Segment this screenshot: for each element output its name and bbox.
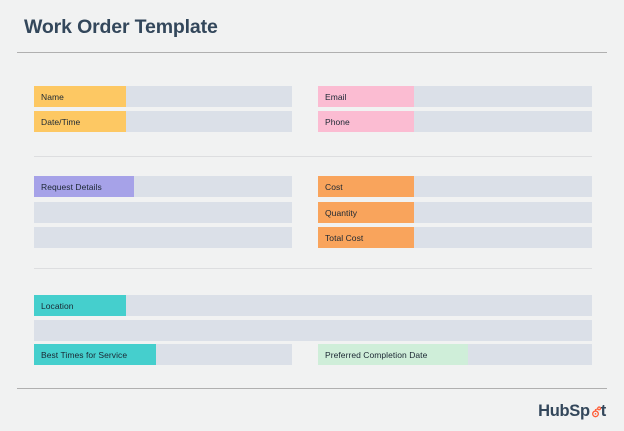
field-row-cost[interactable]: Cost <box>318 176 592 197</box>
page-title: Work Order Template <box>24 16 218 39</box>
field-row-phone[interactable]: Phone <box>318 111 592 132</box>
field-value-location-line2[interactable] <box>34 320 592 341</box>
hubspot-sprocket-icon <box>589 406 602 419</box>
work-order-template-page: Work Order Template Name Email Date/Time… <box>0 0 624 431</box>
field-row-datetime[interactable]: Date/Time <box>34 111 292 132</box>
field-value-name[interactable] <box>126 86 292 107</box>
field-label-email: Email <box>318 86 414 107</box>
field-value-location[interactable] <box>126 295 592 316</box>
hubspot-logo-text-before: HubSp <box>538 403 590 420</box>
field-value-phone[interactable] <box>414 111 592 132</box>
field-row-best-times-for-service[interactable]: Best Times for Service <box>34 344 292 365</box>
field-label-location: Location <box>34 295 126 316</box>
field-row-request-details-line2[interactable] <box>34 202 292 223</box>
field-row-preferred-completion-date[interactable]: Preferred Completion Date <box>318 344 592 365</box>
field-value-quantity[interactable] <box>414 202 592 223</box>
field-value-cost[interactable] <box>414 176 592 197</box>
field-label-datetime: Date/Time <box>34 111 126 132</box>
field-row-request-details-line3[interactable] <box>34 227 292 248</box>
field-value-request-details-line2[interactable] <box>34 202 292 223</box>
field-row-name[interactable]: Name <box>34 86 292 107</box>
title-divider <box>17 52 607 53</box>
field-label-phone: Phone <box>318 111 414 132</box>
field-value-request-details[interactable] <box>134 176 292 197</box>
field-value-preferred-completion-date[interactable] <box>468 344 592 365</box>
field-label-cost: Cost <box>318 176 414 197</box>
field-label-name: Name <box>34 86 126 107</box>
footer-divider <box>17 388 607 389</box>
field-label-request-details: Request Details <box>34 176 134 197</box>
section-divider-2 <box>34 268 592 269</box>
field-value-best-times-for-service[interactable] <box>156 344 292 365</box>
hubspot-logo-text: HubSp t <box>538 403 606 420</box>
section-divider-1 <box>34 156 592 157</box>
field-value-request-details-line3[interactable] <box>34 227 292 248</box>
field-value-email[interactable] <box>414 86 592 107</box>
field-row-email[interactable]: Email <box>318 86 592 107</box>
field-row-location[interactable]: Location <box>34 295 592 316</box>
field-row-total-cost[interactable]: Total Cost <box>318 227 592 248</box>
field-label-quantity: Quantity <box>318 202 414 223</box>
hubspot-logo: HubSp t <box>538 400 606 422</box>
field-label-preferred-completion-date: Preferred Completion Date <box>318 344 468 365</box>
field-value-datetime[interactable] <box>126 111 292 132</box>
field-label-best-times-for-service: Best Times for Service <box>34 344 156 365</box>
field-label-total-cost: Total Cost <box>318 227 414 248</box>
field-value-total-cost[interactable] <box>414 227 592 248</box>
field-row-quantity[interactable]: Quantity <box>318 202 592 223</box>
field-row-location-line2[interactable] <box>34 320 592 341</box>
field-row-request-details[interactable]: Request Details <box>34 176 292 197</box>
